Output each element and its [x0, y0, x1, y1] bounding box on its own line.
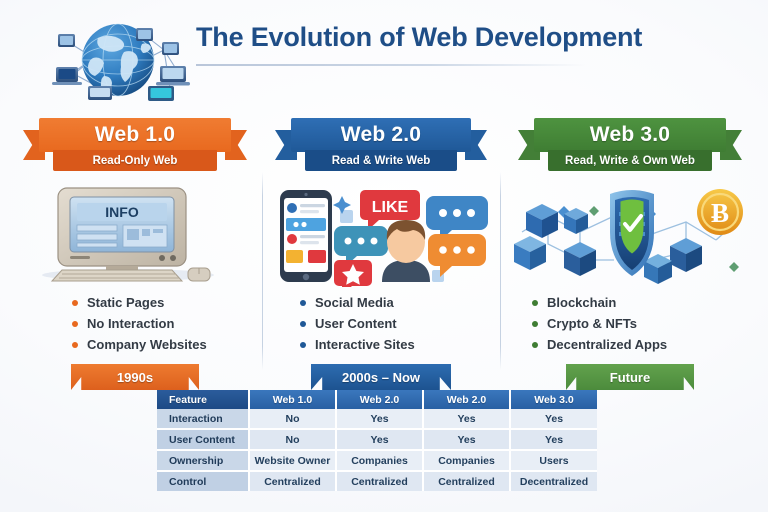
ribbon-body: Web 1.0	[39, 118, 231, 152]
table-cell: No	[249, 409, 336, 429]
row-label: Interaction	[157, 409, 249, 429]
list-item-label: Social Media	[315, 292, 394, 313]
column-web-2: Web 2.0 Read & Write Web	[264, 112, 498, 377]
list-item-label: Static Pages	[87, 292, 164, 313]
ribbon-body: Web 2.0	[291, 118, 471, 152]
column-header-web-3: Web 3.0	[510, 390, 597, 409]
feature-list-web-3: Blockchain Crypto & NFTs Decentralized A…	[502, 292, 758, 355]
column-header-feature: Feature	[157, 390, 249, 409]
bullet-dot-icon	[72, 321, 78, 327]
list-item: Crypto & NFTs	[532, 313, 758, 334]
table-cell: Users	[510, 450, 597, 471]
era-badge-web-3: Future	[566, 364, 694, 390]
table-cell: Yes	[510, 429, 597, 450]
table-cell: Yes	[510, 409, 597, 429]
table-cell: Website Owner	[249, 450, 336, 471]
feature-list-web-1: Static Pages No Interaction Company Webs…	[10, 292, 260, 355]
table-cell: Yes	[423, 409, 510, 429]
column-divider-1	[262, 172, 263, 370]
list-item: No Interaction	[72, 313, 260, 334]
banner-title: Web 2.0	[341, 123, 421, 147]
crt-desktop-computer-icon: INFO	[10, 182, 260, 282]
globe-network-icon	[38, 14, 198, 106]
bitcoin-icon: Ƀ	[697, 189, 743, 235]
infographic-canvas: The Evolution of Web Development Web 1.0…	[0, 0, 768, 512]
row-label: Ownership	[157, 450, 249, 471]
column-header-web-2b: Web 2.0	[423, 390, 510, 409]
bullet-dot-icon	[532, 342, 538, 348]
list-item: Company Websites	[72, 334, 260, 355]
list-item: Interactive Sites	[300, 334, 498, 355]
page-title: The Evolution of Web Development	[196, 22, 756, 53]
row-label: User Content	[157, 429, 249, 450]
list-item: Social Media	[300, 292, 498, 313]
header: The Evolution of Web Development	[0, 0, 768, 112]
table-cell: Yes	[423, 429, 510, 450]
list-item-label: No Interaction	[87, 313, 174, 334]
list-item: Blockchain	[532, 292, 758, 313]
table-cell: Decentralized	[510, 471, 597, 491]
banner-web-2: Web 2.0 Read & Write Web	[275, 118, 487, 174]
blockchain-shield-bitcoin-icon: Ƀ	[502, 182, 758, 282]
banner-subtitle: Read, Write & Own Web	[548, 150, 712, 171]
table-cell: Companies	[423, 450, 510, 471]
table-cell: Yes	[336, 429, 423, 450]
table-row: Interaction No Yes Yes Yes	[157, 409, 597, 429]
table-row: Control Centralized Centralized Centrali…	[157, 471, 597, 491]
list-item-label: User Content	[315, 313, 397, 334]
column-web-1: Web 1.0 Read-Only Web	[10, 112, 260, 377]
bullet-dot-icon	[532, 321, 538, 327]
table-row: Ownership Website Owner Companies Compan…	[157, 450, 597, 471]
banner-subtitle: Read-Only Web	[53, 150, 217, 171]
banner-title: Web 1.0	[95, 123, 175, 147]
table-cell: Companies	[336, 450, 423, 471]
bullet-dot-icon	[72, 300, 78, 306]
table-cell: Centralized	[249, 471, 336, 491]
column-divider-2	[500, 172, 501, 370]
bullet-dot-icon	[300, 342, 306, 348]
table-cell: No	[249, 429, 336, 450]
bullet-dot-icon	[72, 342, 78, 348]
social-media-phone-icon: LIKE	[264, 182, 498, 282]
avatar	[382, 220, 430, 282]
bullet-dot-icon	[532, 300, 538, 306]
ribbon-body: Web 3.0	[534, 118, 726, 152]
title-underline	[196, 64, 586, 66]
feature-list-web-2: Social Media User Content Interactive Si…	[264, 292, 498, 355]
banner-web-3: Web 3.0 Read, Write & Own Web	[518, 118, 742, 174]
list-item-label: Blockchain	[547, 292, 616, 313]
svg-text:Ƀ: Ƀ	[711, 198, 729, 228]
table-cell: Centralized	[423, 471, 510, 491]
banner-subtitle: Read & Write Web	[305, 150, 457, 171]
table-cell: Centralized	[336, 471, 423, 491]
list-item-label: Decentralized Apps	[547, 334, 667, 355]
column-header-web-2a: Web 2.0	[336, 390, 423, 409]
list-item-label: Interactive Sites	[315, 334, 415, 355]
banner-title: Web 3.0	[590, 123, 670, 147]
comparison-table: Feature Web 1.0 Web 2.0 Web 2.0 Web 3.0 …	[157, 390, 597, 491]
screen-label: INFO	[105, 204, 139, 220]
row-label: Control	[157, 471, 249, 491]
era-badge-web-2: 2000s – Now	[311, 364, 451, 390]
table-cell: Yes	[336, 409, 423, 429]
bullet-dot-icon	[300, 321, 306, 327]
list-item: Decentralized Apps	[532, 334, 758, 355]
list-item-label: Crypto & NFTs	[547, 313, 637, 334]
column-header-web-1: Web 1.0	[249, 390, 336, 409]
list-item: User Content	[300, 313, 498, 334]
table-row: User Content No Yes Yes Yes	[157, 429, 597, 450]
banner-web-1: Web 1.0 Read-Only Web	[23, 118, 247, 174]
table-header-row: Feature Web 1.0 Web 2.0 Web 2.0 Web 3.0	[157, 390, 597, 409]
svg-text:LIKE: LIKE	[372, 199, 409, 216]
list-item: Static Pages	[72, 292, 260, 313]
era-badge-web-1: 1990s	[71, 364, 199, 390]
bullet-dot-icon	[300, 300, 306, 306]
column-web-3: Web 3.0 Read, Write & Own Web	[502, 112, 758, 377]
list-item-label: Company Websites	[87, 334, 207, 355]
